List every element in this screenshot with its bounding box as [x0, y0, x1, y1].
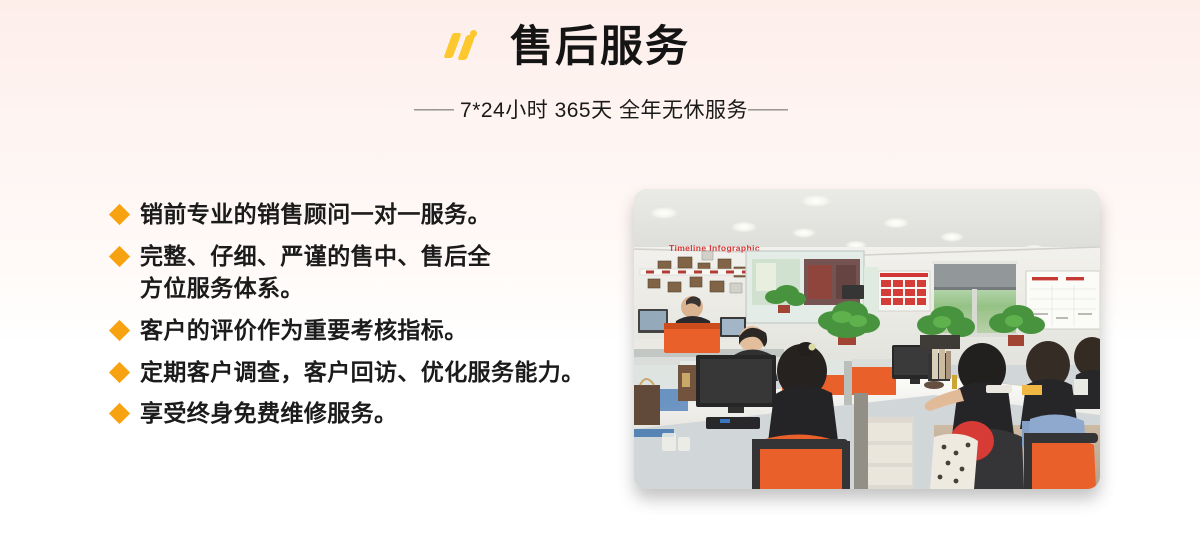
list-item-label: 定期客户调查，客户回访、优化服务能力。 [140, 359, 585, 385]
list-item: 完整、仔细、严谨的售中、售后全 方位服务体系。 [112, 240, 632, 305]
diamond-bullet-icon [109, 403, 130, 424]
list-item: 享受终身免费维修服务。 [112, 397, 632, 430]
office-workspace-photo: Timeline Infographic [634, 189, 1100, 489]
subtitle-text: 7*24小时 365天 全年无休服务 [460, 94, 748, 124]
subtitle-dash-right: —— [748, 97, 786, 121]
double-slash-ornament-right-icon [716, 29, 756, 65]
list-item-label: 客户的评价作为重要考核指标。 [140, 317, 468, 343]
list-item-label: 完整、仔细、严谨的售中、售后全 [140, 243, 491, 269]
double-slash-ornament-left-icon [444, 29, 484, 65]
diamond-bullet-icon [109, 204, 130, 225]
list-item: 销前专业的销售顾问一对一服务。 [112, 198, 632, 231]
header: 售后服务 —— 7*24小时 365天 全年无休服务 —— [0, 16, 1200, 124]
service-feature-list: 销前专业的销售顾问一对一服务。 完整、仔细、严谨的售中、售后全 方位服务体系。 … [112, 198, 632, 439]
subtitle: —— 7*24小时 365天 全年无休服务 —— [0, 94, 1200, 124]
list-item: 客户的评价作为重要考核指标。 [112, 314, 632, 347]
list-item: 定期客户调查，客户回访、优化服务能力。 [112, 356, 632, 389]
list-item-label: 享受终身免费维修服务。 [140, 400, 397, 426]
list-item-label-continued: 方位服务体系。 [140, 272, 491, 305]
diamond-bullet-icon [109, 320, 130, 341]
page-title: 售后服务 [510, 26, 690, 69]
diamond-bullet-icon [109, 246, 130, 267]
diamond-bullet-icon [109, 362, 130, 383]
subtitle-dash-left: —— [414, 97, 452, 121]
list-item-label: 销前专业的销售顾问一对一服务。 [140, 201, 491, 227]
promo-banner: 售后服务 —— 7*24小时 365天 全年无休服务 —— 销前专业的销售顾问一… [0, 0, 1200, 556]
title-row: 售后服务 [0, 16, 1200, 78]
